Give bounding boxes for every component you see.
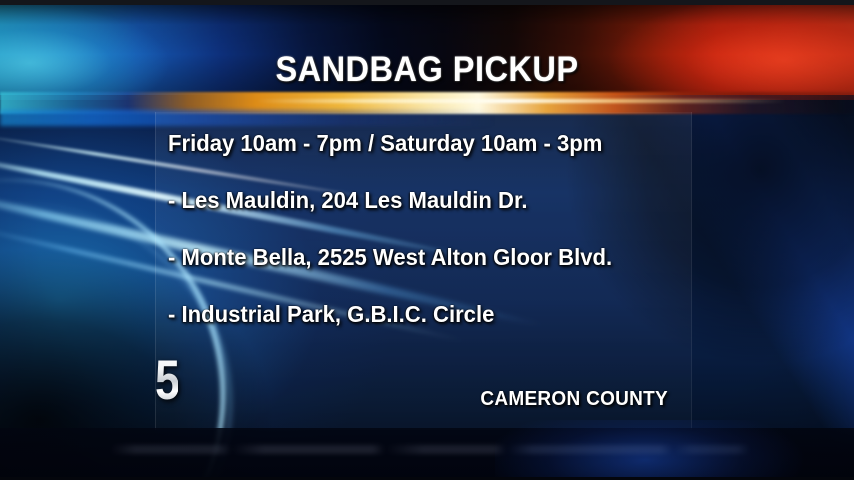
station-logo-5: 5: [155, 352, 178, 408]
broadcast-graphic: SANDBAG PICKUP Friday 10am - 7pm / Satur…: [0, 0, 854, 480]
letterbox-top: [0, 0, 854, 5]
list-item: - Monte Bella, 2525 West Alton Gloor Blv…: [168, 246, 667, 269]
hours-line: Friday 10am - 7pm / Saturday 10am - 3pm: [168, 132, 667, 155]
list-item: - Les Mauldin, 204 Les Mauldin Dr.: [168, 189, 667, 212]
region-label: CAMERON COUNTY: [413, 388, 668, 411]
page-title: SANDBAG PICKUP: [30, 50, 824, 90]
ticker-ghost-text: [110, 445, 750, 454]
info-list: Friday 10am - 7pm / Saturday 10am - 3pm …: [168, 132, 688, 326]
list-item: - Industrial Park, G.B.I.C. Circle: [168, 303, 667, 326]
amber-light-core: [256, 99, 786, 103]
